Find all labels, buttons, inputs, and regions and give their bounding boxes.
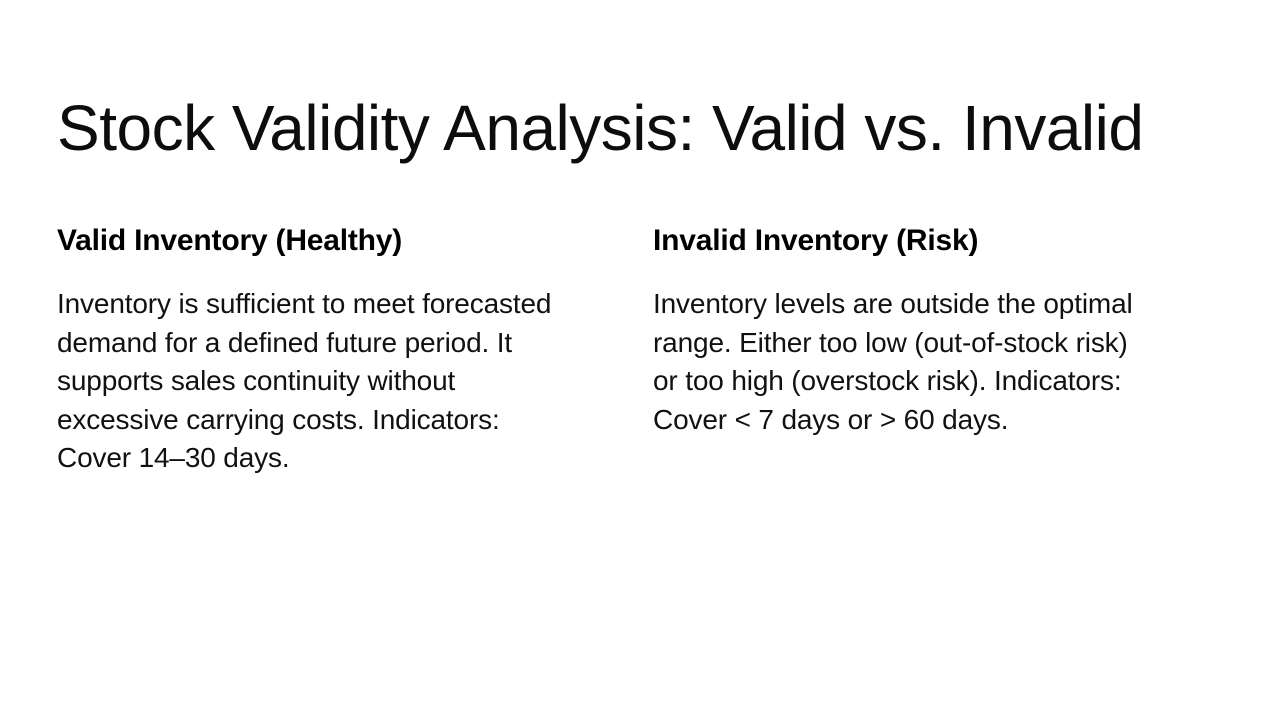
presentation-slide: Stock Validity Analysis: Valid vs. Inval… bbox=[0, 0, 1280, 720]
column-body-invalid: Inventory levels are outside the optimal… bbox=[653, 285, 1153, 439]
slide-title: Stock Validity Analysis: Valid vs. Inval… bbox=[57, 95, 1177, 163]
column-valid-inventory: Valid Inventory (Healthy) Inventory is s… bbox=[57, 222, 557, 478]
two-column-content: Valid Inventory (Healthy) Inventory is s… bbox=[57, 222, 1223, 478]
column-heading-invalid: Invalid Inventory (Risk) bbox=[653, 222, 1153, 259]
column-invalid-inventory: Invalid Inventory (Risk) Inventory level… bbox=[653, 222, 1153, 439]
column-body-valid: Inventory is sufficient to meet forecast… bbox=[57, 285, 557, 478]
column-heading-valid: Valid Inventory (Healthy) bbox=[57, 222, 557, 259]
